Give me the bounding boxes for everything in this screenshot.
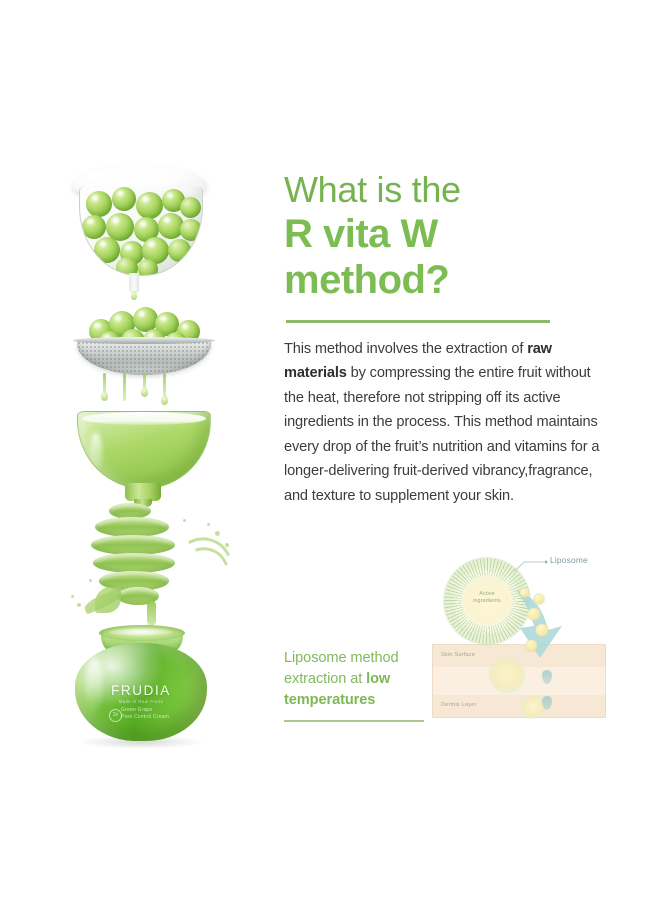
body-text-part-2: by compressing the entire fruit without …	[284, 365, 599, 504]
liposome-caption-divider	[284, 720, 424, 722]
liposome-penetration-diagram: Skin Surface Dermis Layer Active ingredi…	[432, 552, 608, 720]
bowl-glass	[79, 187, 203, 276]
product-infographic-page: FRUDIA Made of Real Fruits 2x Green Grap…	[0, 0, 660, 900]
strainer-basket	[77, 341, 211, 375]
text-content-column: What is the R vita W method? This method…	[284, 168, 614, 509]
body-paragraph: This method involves the extraction of r…	[284, 337, 614, 509]
bowl-drip-droplet	[131, 291, 137, 300]
liposome-caption-text: Liposome method extraction at low temper…	[284, 648, 434, 711]
jar-body: FRUDIA Made of Real Fruits 2x Green Grap…	[75, 643, 207, 741]
page-title-line-3: method?	[284, 257, 614, 303]
strainer-mesh	[77, 341, 211, 375]
product-variant: Green Grape Pore Control Cream	[121, 707, 195, 721]
extraction-process-illustration: FRUDIA Made of Real Fruits 2x Green Grap…	[55, 155, 250, 755]
product-jar: FRUDIA Made of Real Fruits 2x Green Grap…	[63, 625, 233, 750]
page-title-line-2: R vita W	[284, 212, 614, 257]
body-text-part-1: This method involves the extraction of	[284, 341, 527, 357]
page-title-line-1: What is the	[284, 168, 614, 212]
title-divider	[286, 320, 550, 323]
dermis-layer-label: Dermis Layer	[441, 702, 477, 708]
product-brand-name: FRUDIA	[75, 683, 207, 698]
product-variant-line2: Pore Control Cream	[121, 714, 195, 721]
bowl-spout	[129, 273, 139, 293]
juice-bowl	[77, 411, 211, 489]
green-juice-bowl-icon	[77, 403, 217, 508]
liposome-particle	[520, 588, 529, 597]
liposome-particle	[526, 640, 537, 651]
spiral-tail	[147, 601, 156, 625]
skin-surface-label: Skin Surface	[441, 652, 475, 658]
liposome-particle	[536, 624, 548, 636]
strainer-lip	[73, 337, 215, 344]
liquid-spiral-icon	[65, 503, 250, 633]
liposome-particle	[528, 608, 540, 620]
jar-mouth	[99, 625, 185, 641]
liposome-leader-line	[514, 558, 548, 574]
glass-bowl-with-grapes-icon	[65, 155, 215, 300]
product-variant-line1: Green Grape	[121, 707, 195, 714]
liposome-particle	[534, 594, 544, 604]
product-tagline: Made of Real Fruits	[75, 699, 207, 704]
liposome-label: Liposome	[550, 555, 588, 565]
liposome-caption-block: Liposome method extraction at low temper…	[284, 648, 434, 722]
